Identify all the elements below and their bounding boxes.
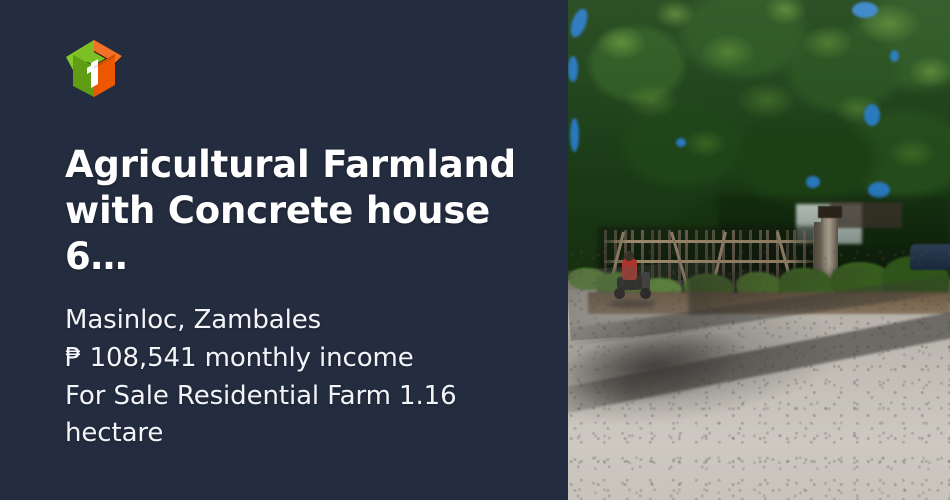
listing-location: Masinloc, Zambales [65, 302, 515, 340]
listing-price: ₱ 108,541 monthly income [65, 340, 515, 378]
house-logo-icon[interactable] [65, 38, 123, 100]
listing-description-line-2: hectare [65, 415, 515, 453]
sky-gap [570, 118, 579, 152]
sky-gap [890, 50, 899, 62]
sky-gap [676, 138, 686, 147]
listing-description-line-1: For Sale Residential Farm 1.16 [65, 378, 515, 416]
sky-gap [568, 56, 578, 82]
sky-gap [806, 176, 820, 188]
fence-rail [604, 240, 814, 243]
sky-gap [852, 2, 878, 18]
sky-gap [864, 104, 880, 126]
listing-photo [568, 0, 950, 500]
listing-card: Agricultural Farmland with Concrete hous… [0, 0, 950, 500]
listing-details: Masinloc, Zambales ₱ 108,541 monthly inc… [65, 302, 528, 454]
utility-pole-top [818, 206, 842, 218]
listing-info-panel: Agricultural Farmland with Concrete hous… [0, 0, 568, 500]
page-title: Agricultural Farmland with Concrete hous… [65, 142, 528, 280]
